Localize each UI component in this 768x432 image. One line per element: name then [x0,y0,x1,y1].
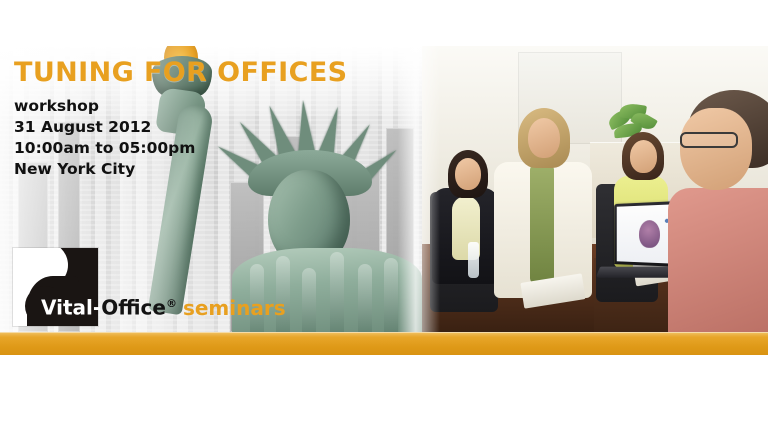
attendee-face [528,118,560,158]
detail-date: 31 August 2012 [14,117,344,138]
presenter [646,70,768,332]
detail-workshop: workshop [14,96,344,117]
accent-bar [0,332,768,355]
page-title: TUNING FOR OFFICES [14,58,344,88]
attendee-face [455,158,481,190]
robe-fold [330,252,344,332]
water-bottle [468,242,479,278]
bottom-white-area [0,355,768,432]
robe-fold [384,258,398,332]
event-details: workshop 31 August 2012 10:00am to 05:00… [14,96,344,180]
top-white-gutter [0,0,768,46]
banner-artwork-strip: TUNING FOR OFFICES workshop 31 August 20… [0,46,768,332]
logo-word-vital: Vital- [41,296,101,320]
seminar-room-photo [422,46,768,332]
logo-wordmark: Vital-Office®seminars [41,292,286,320]
detail-time: 10:00am to 05:00pm [14,138,344,159]
detail-location: New York City [14,159,344,180]
robe-fold [302,268,316,332]
attendee-scarf [530,164,554,284]
presenter-shirt [668,188,768,332]
registered-trademark-icon: ® [166,297,177,310]
seminar-banner: TUNING FOR OFFICES workshop 31 August 20… [0,0,768,432]
attendee-center [488,92,598,332]
eyeglasses-icon [680,132,738,148]
logo-word-seminars: seminars [183,296,286,320]
robe-fold [358,264,372,332]
banner-text-block: TUNING FOR OFFICES workshop 31 August 20… [14,58,344,180]
logo-word-office: Office [101,296,166,320]
presenter-face [680,108,752,190]
